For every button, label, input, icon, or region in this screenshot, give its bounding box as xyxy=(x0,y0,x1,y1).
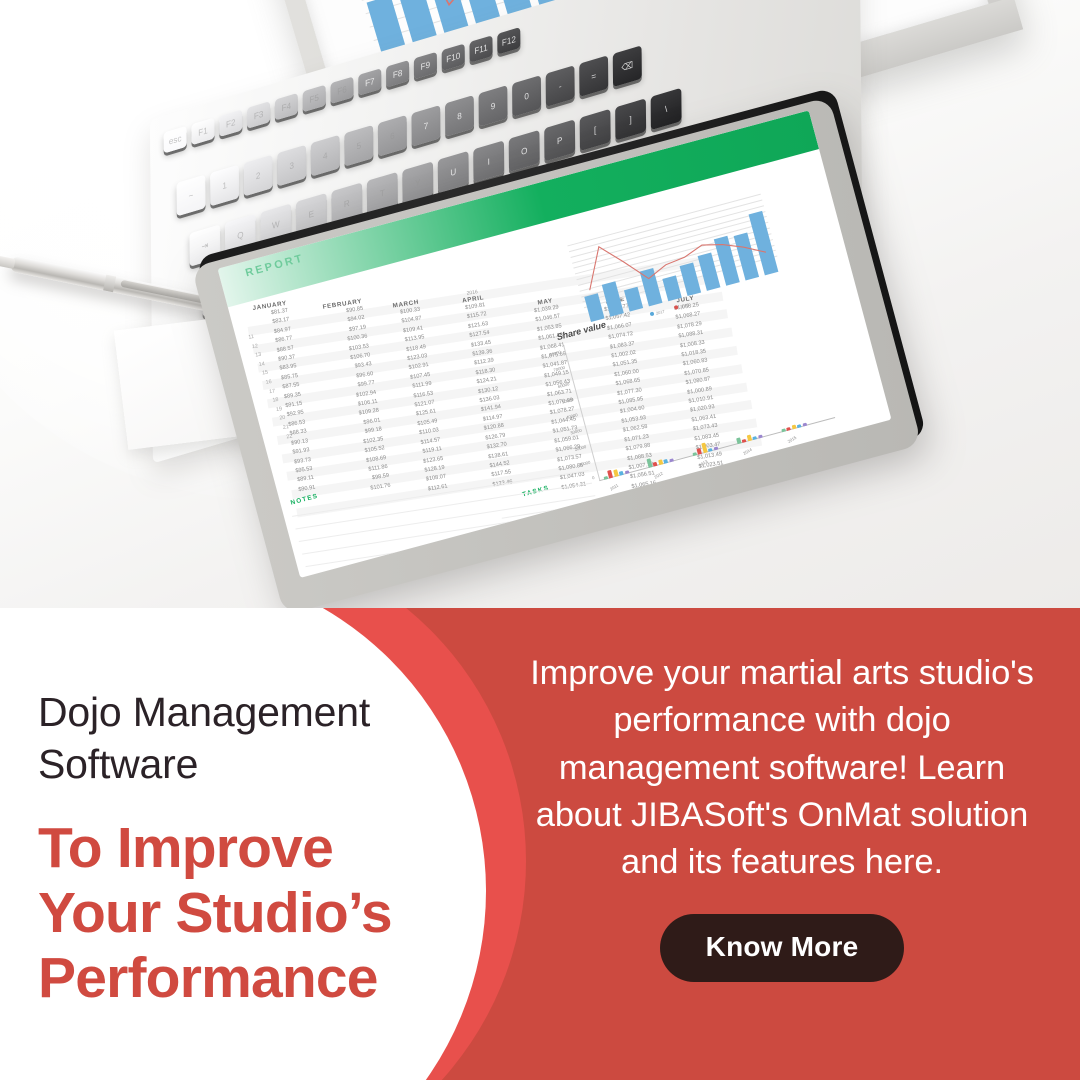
row-number: 22 xyxy=(286,433,293,440)
know-more-button[interactable]: Know More xyxy=(660,914,905,982)
row-number: 19 xyxy=(276,406,283,413)
row-number: 13 xyxy=(255,352,262,359)
axis-tick-label: 2011 xyxy=(609,483,619,492)
chart-bar xyxy=(786,427,791,431)
chart-bar xyxy=(607,469,613,478)
chart-bar xyxy=(797,424,802,428)
axis-tick-label: 2012 xyxy=(654,470,665,479)
chart-bar xyxy=(658,459,663,465)
left-copy-block: Dojo Management Software To Improve Your… xyxy=(38,686,438,1011)
row-number: 18 xyxy=(272,397,279,404)
axis-tick-label: 2015 xyxy=(787,435,798,444)
chart-bar xyxy=(697,448,703,455)
chart-bar xyxy=(603,476,608,480)
cta-container: Know More xyxy=(524,914,1040,982)
chart-bar xyxy=(746,435,751,442)
chart-bar xyxy=(802,423,807,427)
promo-paragraph: Improve your martial arts studio's perfo… xyxy=(524,650,1040,886)
tablet-spreadsheet: JANUARY$81.37$83.17$84.97$86.77$88.57$90… xyxy=(243,157,882,569)
product-kicker: Dojo Management Software xyxy=(38,686,438,790)
hero-photo: 2.0001.9001.8001.7001.6001.5001.4001.300… xyxy=(0,0,1080,660)
row-number: 17 xyxy=(269,388,276,395)
promo-panel: Dojo Management Software To Improve Your… xyxy=(0,608,1080,1080)
row-number: 16 xyxy=(265,379,272,386)
row-number: 21 xyxy=(283,424,290,431)
row-number: 11 xyxy=(248,334,254,341)
chart-bar xyxy=(736,438,741,445)
social-ad-canvas: 2.0001.9001.8001.7001.6001.5001.4001.300… xyxy=(0,0,1080,1080)
chart-bar xyxy=(758,435,763,439)
right-copy-block: Improve your martial arts studio's perfo… xyxy=(524,650,1040,982)
row-number: 12 xyxy=(251,343,258,350)
page-title: To Improve Your Studio’s Performance xyxy=(38,816,438,1011)
chart-bar xyxy=(791,424,796,429)
row-number: 14 xyxy=(258,361,265,368)
chart-bar xyxy=(781,428,786,432)
